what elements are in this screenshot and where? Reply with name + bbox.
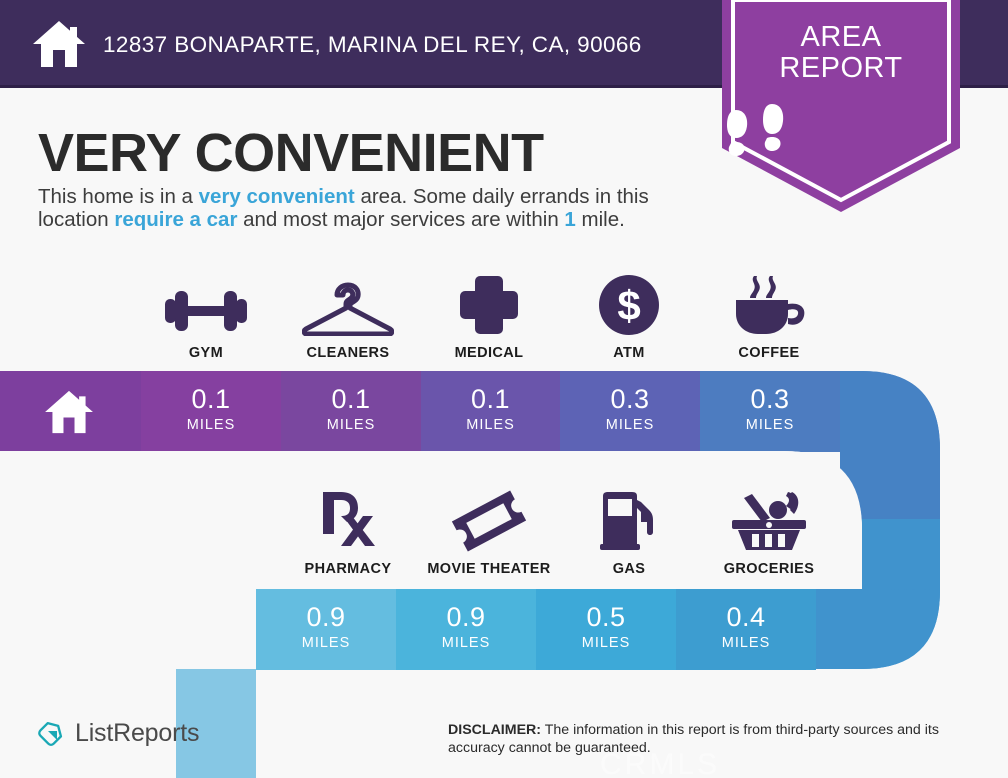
row1-value-gym: 0.1 MILES (141, 371, 281, 452)
distance-unit: MILES (256, 635, 396, 651)
row1-value-coffee: 0.3 MILES (700, 371, 840, 452)
disclaimer-label: DISCLAIMER: (448, 722, 541, 738)
amenity-label: GROCERIES (699, 561, 839, 577)
amenity-label: GYM (136, 345, 276, 361)
listreports-logo-icon (36, 718, 66, 748)
row2-value-pharmacy: 0.9 MILES (256, 589, 396, 670)
distance-value: 0.3 (700, 384, 840, 415)
distance-unit: MILES (676, 635, 816, 651)
amenity-label: CLEANERS (278, 345, 418, 361)
amenity-gas: GAS (559, 488, 699, 577)
ticket-icon (419, 488, 559, 552)
distance-unit: MILES (700, 417, 840, 433)
gas-pump-icon (559, 488, 699, 552)
distance-value: 0.9 (256, 602, 396, 633)
amenity-label: MEDICAL (419, 345, 559, 361)
amenity-label: COFFEE (699, 345, 839, 361)
row2-value-gas: 0.5 MILES (536, 589, 676, 670)
area-report-badge: AREA REPORT (722, 0, 960, 212)
amenity-coffee: COFFEE (699, 272, 839, 361)
house-icon (44, 389, 94, 435)
amenity-medical: MEDICAL (419, 272, 559, 361)
distance-value: 0.5 (536, 602, 676, 633)
row1-home-cell (0, 371, 141, 452)
amenity-label: PHARMACY (278, 561, 418, 577)
row1-value-atm: 0.3 MILES (560, 371, 700, 452)
distance-value: 0.1 (421, 384, 560, 415)
hanger-icon (278, 272, 418, 336)
distance-value: 0.3 (560, 384, 700, 415)
amenity-atm: $ ATM (559, 272, 699, 361)
disclaimer: DISCLAIMER: The information in this repo… (448, 721, 970, 757)
distance-unit: MILES (141, 417, 281, 433)
amenity-label: ATM (559, 345, 699, 361)
distance-unit: MILES (421, 417, 560, 433)
row1-value-cleaners: 0.1 MILES (281, 371, 421, 452)
area-report-page: 12837 BONAPARTE, MARINA DEL REY, CA, 900… (0, 0, 1008, 778)
row2-tail-segment (816, 589, 940, 669)
distance-value: 0.9 (396, 602, 536, 633)
distance-value: 0.1 (281, 384, 421, 415)
footprints-icon (722, 104, 960, 162)
listreports-logo[interactable]: ListReports (36, 718, 199, 748)
badge-line-1: AREA (722, 22, 960, 53)
distance-value: 0.1 (141, 384, 281, 415)
amenity-groceries: GROCERIES (699, 488, 839, 577)
svg-text:$: $ (617, 282, 640, 329)
logo-text: ListReports (75, 719, 199, 748)
amenity-cleaners: CLEANERS (278, 272, 418, 361)
amenity-movie-theater: MOVIE THEATER (419, 488, 559, 577)
amenity-pharmacy: PHARMACY (278, 488, 418, 577)
dollar-coin-icon: $ (559, 272, 699, 336)
distance-unit: MILES (396, 635, 536, 651)
badge-line-2: REPORT (722, 53, 960, 84)
row2-inner-corner (258, 671, 338, 778)
grocery-basket-icon (699, 488, 839, 552)
distance-unit: MILES (536, 635, 676, 651)
row1-value-medical: 0.1 MILES (421, 371, 560, 452)
amenity-gym: GYM (136, 272, 276, 361)
row2-value-groceries: 0.4 MILES (676, 589, 816, 670)
amenity-label: MOVIE THEATER (419, 561, 559, 577)
distance-unit: MILES (281, 417, 421, 433)
dumbbell-icon (136, 272, 276, 336)
badge-title: AREA REPORT (722, 22, 960, 85)
rx-icon (278, 488, 418, 552)
coffee-cup-icon (699, 272, 839, 336)
distance-value: 0.4 (676, 602, 816, 633)
medical-cross-icon (419, 272, 559, 336)
amenity-label: GAS (559, 561, 699, 577)
row2-value-movie: 0.9 MILES (396, 589, 536, 670)
distance-unit: MILES (560, 417, 700, 433)
